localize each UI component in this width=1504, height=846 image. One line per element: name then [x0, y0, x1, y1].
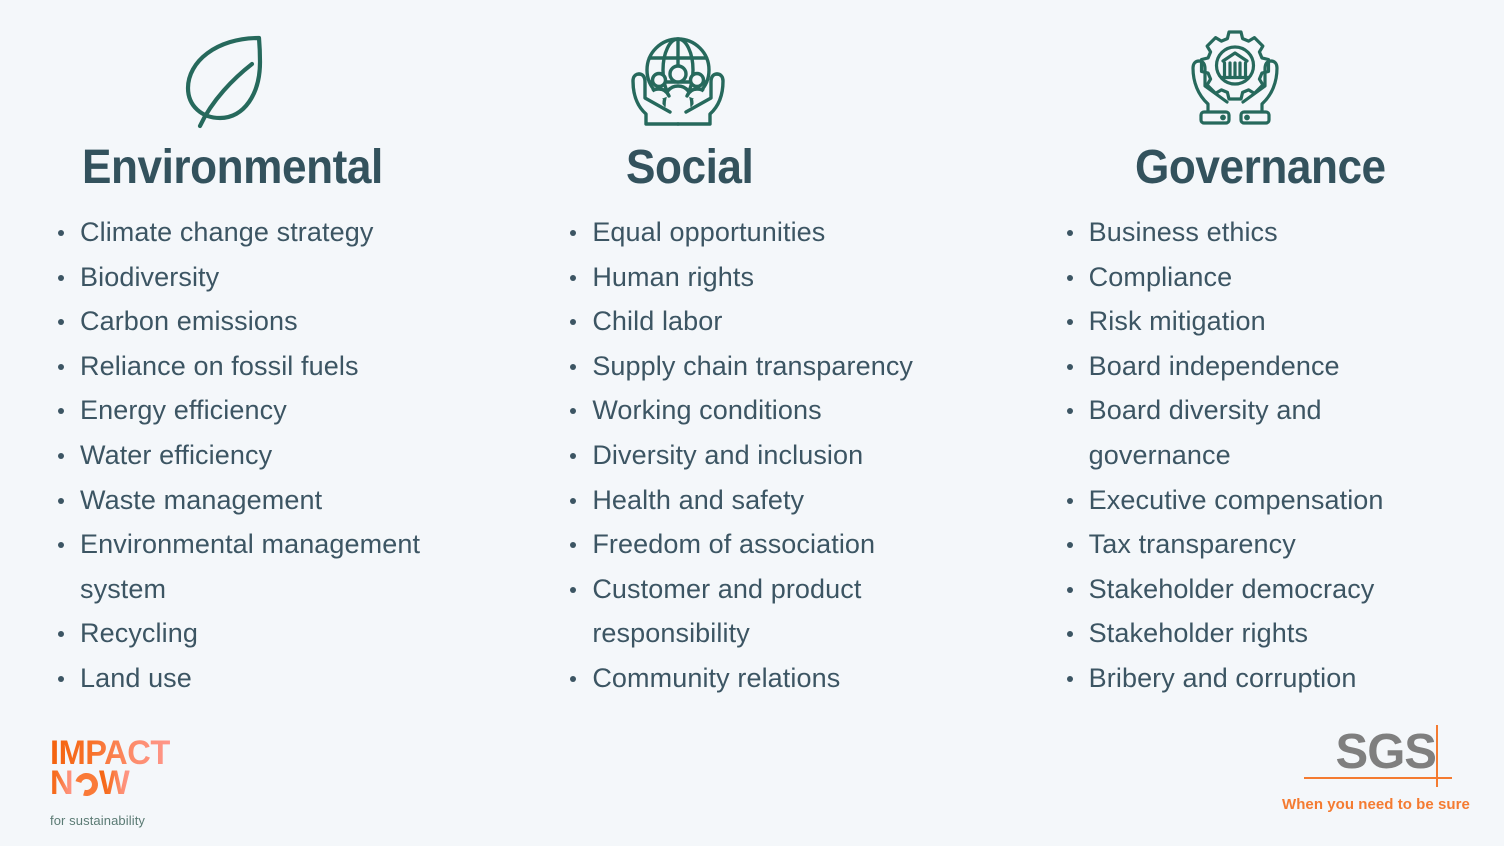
list-item: Carbon emissions	[52, 299, 442, 344]
topic-list-environmental: Climate change strategy Biodiversity Car…	[52, 210, 442, 701]
list-item: Diversity and inclusion	[564, 433, 964, 478]
list-item: Risk mitigation	[1061, 299, 1461, 344]
impact-now-n: N	[50, 768, 73, 798]
column-heading: Environmental	[82, 144, 383, 192]
hands-gear-building-icon	[1061, 18, 1504, 130]
sgs-wordmark: SGS	[1336, 728, 1436, 777]
topic-list-social: Equal opportunities Human rights Child l…	[564, 210, 964, 701]
list-item: Tax transparency	[1061, 522, 1461, 567]
topic-list-governance: Business ethics Compliance Risk mitigati…	[1061, 210, 1461, 701]
list-item: Community relations	[564, 656, 964, 701]
column-governance: Governance Business ethics Compliance Ri…	[1003, 18, 1504, 701]
impact-now-logo: IMPACT N W for sustainability	[50, 738, 175, 828]
column-social: Social Equal opportunities Human rights …	[501, 18, 1002, 701]
hands-globe-people-icon	[564, 18, 1064, 130]
list-item: Environmental management system	[52, 522, 442, 611]
list-item: Business ethics	[1061, 210, 1461, 255]
list-item: Stakeholder democracy	[1061, 567, 1461, 612]
impact-now-w: W	[99, 768, 129, 798]
list-item: Supply chain transparency	[564, 344, 964, 389]
list-item: Customer and product responsibility	[564, 567, 964, 656]
list-item: Board diversity and governance	[1061, 388, 1461, 477]
list-item: Recycling	[52, 611, 442, 656]
impact-now-line2: N W	[50, 768, 175, 798]
column-heading: Governance	[1135, 144, 1386, 192]
list-item: Compliance	[1061, 255, 1461, 300]
list-item: Child labor	[564, 299, 964, 344]
list-item: Human rights	[564, 255, 964, 300]
esg-columns: Environmental Climate change strategy Bi…	[0, 18, 1504, 701]
list-item: Reliance on fossil fuels	[52, 344, 442, 389]
sgs-logo: SGS When you need to be sure	[1282, 730, 1452, 813]
sgs-tagline: When you need to be sure	[1282, 796, 1452, 813]
esg-infographic-slide: Environmental Climate change strategy Bi…	[0, 0, 1504, 846]
list-item: Bribery and corruption	[1061, 656, 1461, 701]
column-environmental: Environmental Climate change strategy Bi…	[0, 18, 501, 701]
list-item: Energy efficiency	[52, 388, 442, 433]
list-item: Climate change strategy	[52, 210, 442, 255]
list-item: Biodiversity	[52, 255, 442, 300]
column-heading: Social	[626, 144, 753, 192]
sgs-mark: SGS	[1282, 730, 1452, 782]
list-item: Executive compensation	[1061, 478, 1461, 523]
list-item: Waste management	[52, 478, 442, 523]
impact-now-tagline: for sustainability	[50, 813, 175, 828]
list-item: Board independence	[1061, 344, 1461, 389]
impact-now-o-ring-icon	[71, 768, 102, 799]
list-item: Health and safety	[564, 478, 964, 523]
list-item: Working conditions	[564, 388, 964, 433]
list-item: Water efficiency	[52, 433, 442, 478]
list-item: Equal opportunities	[564, 210, 964, 255]
list-item: Land use	[52, 656, 442, 701]
sgs-vertical-rule-icon	[1436, 725, 1438, 787]
list-item: Freedom of association	[564, 522, 964, 567]
list-item: Stakeholder rights	[1061, 611, 1461, 656]
sgs-horizontal-rule-icon	[1304, 777, 1452, 779]
